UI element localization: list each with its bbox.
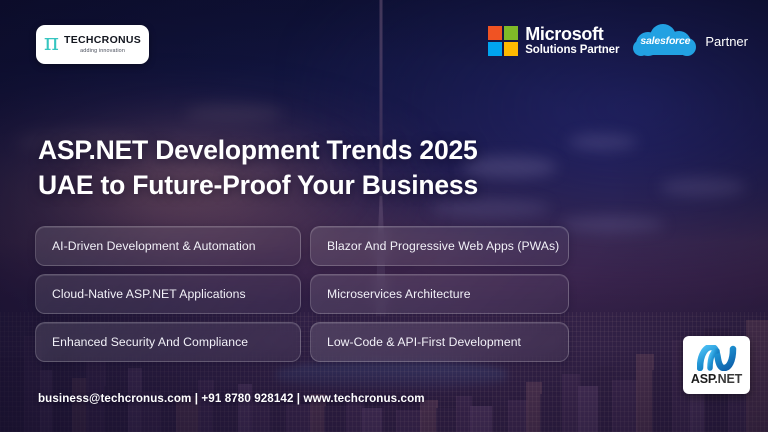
salesforce-partner-badge: salesforce Partner [632,24,748,58]
headline-line-2: UAE to Future-Proof Your Business [38,169,478,203]
aspnet-swoosh-icon [697,345,737,371]
salesforce-partner-label: Partner [705,34,748,49]
pi-icon: π [44,32,59,55]
aspnet-wordmark: ASP.NET [691,372,742,386]
headline-line-1: ASP.NET Development Trends 2025 [38,134,478,168]
trend-pill[interactable]: Cloud-Native ASP.NET Applications [35,274,301,314]
microsoft-wordmark: Microsoft [525,25,619,43]
logo-company-name: TECHCRONUS [64,35,141,46]
techcronus-logo[interactable]: π TECHCRONUS adding innovation [36,25,149,64]
trend-pill[interactable]: Enhanced Security And Compliance [35,322,301,362]
microsoft-solutions-partner-badge: Microsoft Solutions Partner [488,25,619,57]
logo-tagline: adding innovation [80,48,125,54]
aspnet-asp: ASP [691,372,715,386]
partner-badges: Microsoft Solutions Partner [488,24,748,58]
trend-pill[interactable]: Blazor And Progressive Web Apps (PWAs) [310,226,569,266]
page-title: ASP.NET Development Trends 2025 UAE to F… [38,134,478,203]
salesforce-cloud-icon: salesforce [632,24,698,58]
microsoft-logo-icon [488,26,518,56]
salesforce-wordmark: salesforce [632,35,698,47]
trend-pill[interactable]: AI-Driven Development & Automation [35,226,301,266]
banner-content: π TECHCRONUS adding innovation Microsoft [0,0,768,432]
microsoft-partner-level: Solutions Partner [525,45,619,57]
trend-pill[interactable]: Low-Code & API-First Development [310,322,569,362]
trend-list: AI-Driven Development & Automation Blazo… [35,226,569,362]
aspnet-net: .NET [714,372,742,386]
trend-pill[interactable]: Microservices Architecture [310,274,569,314]
aspnet-logo-badge: ASP.NET [683,336,750,394]
promotional-banner: π TECHCRONUS adding innovation Microsoft [0,0,768,432]
contact-info[interactable]: business@techcronus.com | +91 8780 92814… [38,392,425,405]
